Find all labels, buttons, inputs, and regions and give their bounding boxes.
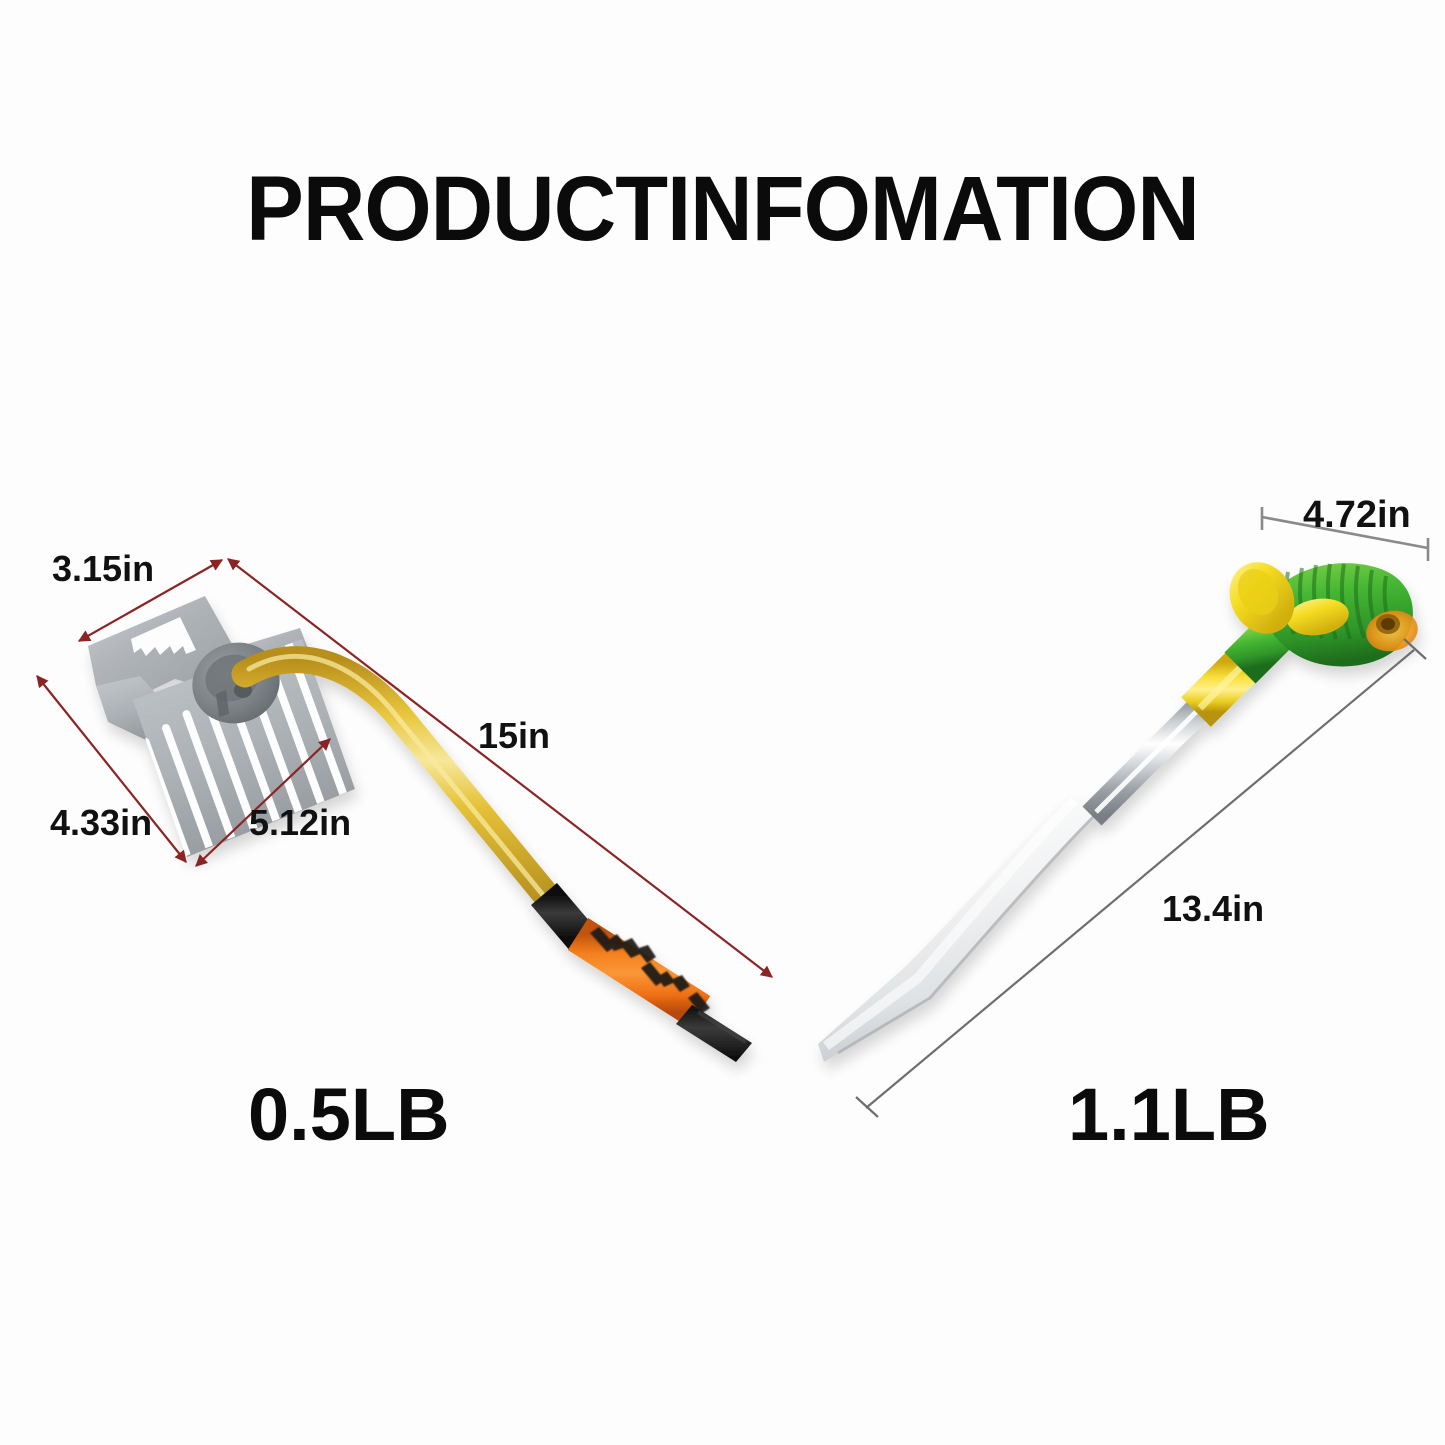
weight-label-rake: 0.5LB xyxy=(248,1078,450,1152)
dimension-line-weeder-length xyxy=(856,639,1426,1117)
product-info-page: PRODUCTINFOMATION xyxy=(0,0,1445,1445)
label-head-depth: 5.12in xyxy=(249,805,351,841)
label-head-height: 4.33in xyxy=(50,805,152,841)
dimension-annotations xyxy=(0,0,1445,1445)
label-handle-width: 4.72in xyxy=(1303,496,1411,534)
label-rake-length: 15in xyxy=(478,718,550,754)
weight-label-weeder: 1.1LB xyxy=(1068,1078,1270,1152)
dimension-line-rake-length xyxy=(228,559,772,977)
label-weeder-length: 13.4in xyxy=(1162,891,1264,927)
label-head-width: 3.15in xyxy=(52,551,154,587)
